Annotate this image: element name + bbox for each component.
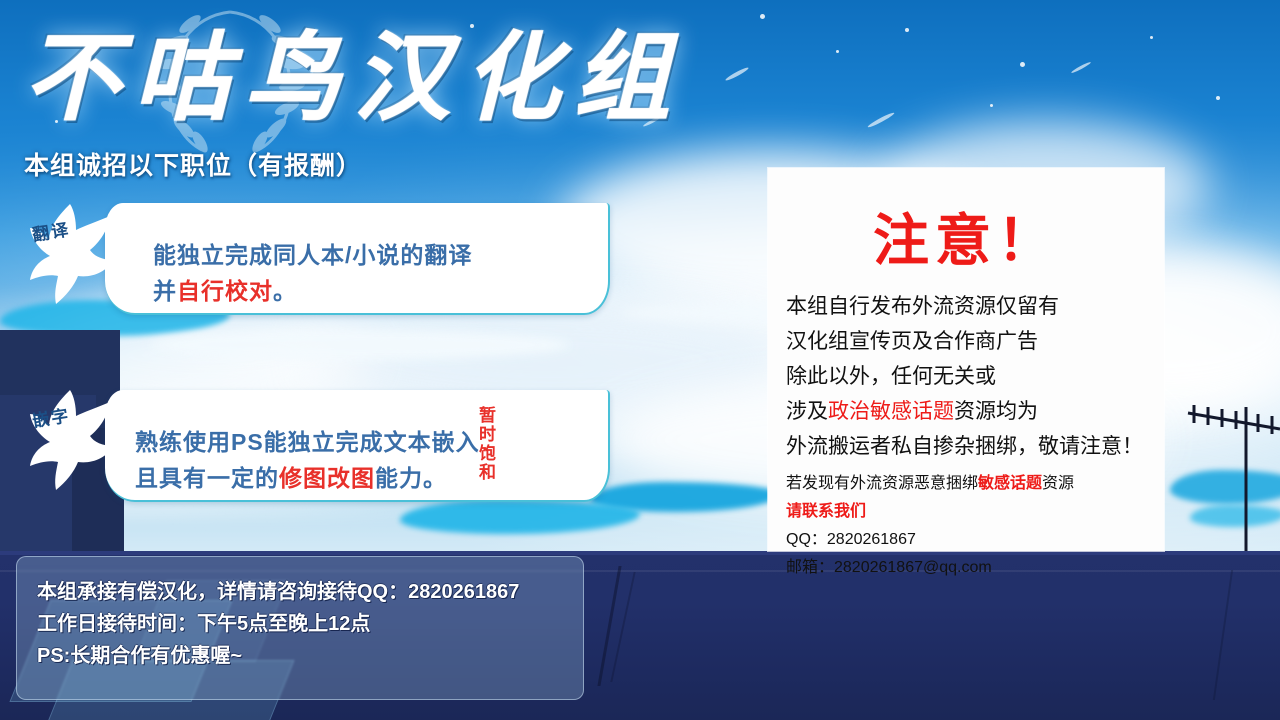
- snow-fleck: [990, 104, 993, 107]
- banner-line-2: 且具有一定的修图改图能力。: [135, 460, 480, 496]
- page-title: 不咕鸟汉化组: [24, 14, 744, 144]
- notice-line: 除此以外，任何无关或: [768, 357, 1164, 392]
- position-banner-translator: 能独立完成同人本/小说的翻译 并自行校对。: [105, 203, 608, 313]
- notice-small-prefix: 若发现有外流资源恶意捆绑: [786, 475, 978, 492]
- notice-line-highlight: 政治敏感话题: [828, 400, 954, 423]
- banner-line-2-suffix: 。: [273, 278, 297, 304]
- notice-panel: 注意！ 本组自行发布外流资源仅留有 汉化组宣传页及合作商广告 除此以外，任何无关…: [768, 168, 1164, 551]
- banner-line-2-prefix: 并: [153, 278, 177, 304]
- snow-fleck: [905, 28, 909, 32]
- banner-line-2: 并自行校对。: [153, 273, 472, 309]
- page-subtitle: 本组诚招以下职位（有报酬）: [24, 146, 362, 182]
- banner-line-2-prefix: 且具有一定的: [135, 465, 279, 491]
- notice-heading: 注意！: [768, 168, 1164, 287]
- status-badge-saturated: 暂时饱和: [475, 406, 495, 482]
- notice-contact-us: 请联系我们: [768, 496, 1164, 524]
- banner-text: 熟练使用PS能独立完成文本嵌入 且具有一定的修图改图能力。: [135, 424, 480, 496]
- commission-info-box: 本组承接有偿汉化，详情请咨询接待QQ：2820261867 工作日接待时间：下午…: [16, 556, 584, 700]
- snow-fleck: [1216, 96, 1220, 100]
- banner-line-2-highlight: 自行校对: [177, 278, 273, 304]
- position-banner-typesetter: 熟练使用PS能独立完成文本嵌入 且具有一定的修图改图能力。 暂时饱和: [105, 390, 608, 500]
- snow-fleck: [1150, 36, 1153, 39]
- poster-canvas: 不咕鸟汉化组 本组诚招以下职位（有报酬） 能独立完成同人本/小说的翻译 并自行校…: [0, 0, 1280, 720]
- notice-small-suffix: 资源: [1042, 475, 1074, 492]
- notice-line: 涉及政治敏感话题资源均为: [768, 392, 1164, 427]
- notice-line-suffix: 资源均为: [954, 400, 1038, 423]
- dove-icon: [22, 202, 118, 306]
- notice-small-line: 若发现有外流资源恶意捆绑敏感话题资源: [768, 462, 1164, 496]
- banner-line-2-highlight: 修图改图: [279, 465, 375, 491]
- commission-line-2: 工作日接待时间：下午5点至晚上12点: [37, 607, 370, 636]
- snow-fleck: [760, 14, 765, 19]
- notice-small-highlight: 敏感话题: [978, 475, 1042, 492]
- notice-qq[interactable]: QQ：2820261867: [768, 524, 1164, 552]
- notice-line: 外流搬运者私自掺杂捆绑，敬请注意！: [768, 427, 1164, 462]
- notice-line-prefix: 涉及: [786, 400, 828, 423]
- banner-text: 能独立完成同人本/小说的翻译 并自行校对。: [153, 237, 472, 309]
- snow-fleck: [1020, 62, 1025, 67]
- notice-email[interactable]: 邮箱：2820261867@qq.com: [768, 552, 1164, 580]
- banner-line-2-suffix: 能力。: [375, 465, 447, 491]
- commission-line-1: 本组承接有偿汉化，详情请咨询接待QQ：2820261867: [37, 575, 519, 604]
- tv-antenna-icon: [1180, 395, 1280, 565]
- commission-line-3: PS:长期合作有优惠喔~: [37, 639, 242, 668]
- dove-icon: [22, 388, 118, 492]
- notice-line: 本组自行发布外流资源仅留有: [768, 287, 1164, 322]
- banner-line-1: 熟练使用PS能独立完成文本嵌入: [135, 424, 480, 460]
- notice-line: 汉化组宣传页及合作商广告: [768, 322, 1164, 357]
- white-streak: [150, 330, 570, 360]
- snow-fleck: [836, 50, 839, 53]
- banner-line-1: 能独立完成同人本/小说的翻译: [153, 237, 472, 273]
